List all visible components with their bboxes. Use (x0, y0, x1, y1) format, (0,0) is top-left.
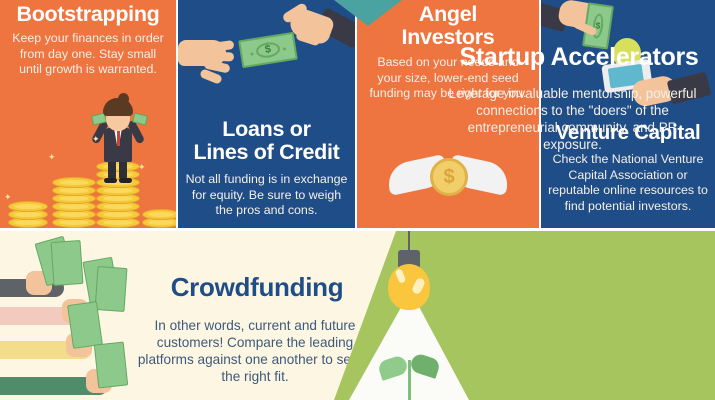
hanging-lightbulb-icon (388, 264, 430, 310)
panel-title-loans: Loans or Lines of Credit (178, 118, 355, 164)
panel-title-loans-line1: Loans or (178, 118, 355, 141)
businessman-figure (92, 92, 146, 188)
panel-body-bootstrapping: Keep your finances in order from day one… (8, 31, 168, 78)
coin-stack-left (52, 164, 96, 228)
businessman-tie (117, 131, 121, 146)
bootstrapping-illustration: ✦ ✦ ✦ ✦ (0, 96, 176, 228)
sparkle-icon: ✦ (138, 162, 146, 173)
businessman-hair (103, 98, 133, 116)
sparkle-icon: ✦ (4, 192, 12, 203)
coin-stack-far-right (142, 202, 176, 228)
cash-fan-4 (94, 342, 128, 389)
cash-fan-1b (51, 240, 84, 286)
panel-title-startup-accelerators: Startup Accelerators (440, 44, 715, 71)
bill-dollar-sign: $ (255, 41, 281, 59)
panel-body-loans: Not all funding is in exchange for equit… (184, 172, 349, 219)
panel-title-crowdfunding: Crowdfunding (122, 274, 392, 302)
businessman-shoe-right (119, 178, 132, 183)
panel-body-startup-accelerators: Leverage invaluable mentorship, powerful… (440, 86, 705, 154)
sparkle-icon: ✦ (92, 134, 100, 145)
winged-coin: $ (430, 158, 468, 196)
panel-bootstrapping: Bootstrapping Keep your finances in orde… (0, 0, 176, 228)
panel-title-bootstrapping: Bootstrapping (0, 3, 176, 26)
panel-body-crowdfunding: In other words, current and future custo… (130, 317, 380, 386)
infographic-canvas: Bootstrapping Keep your finances in orde… (0, 0, 715, 400)
panel-loans-lines-of-credit: $ Loans or Lines of Credit Not all fundi… (178, 0, 355, 228)
businessman-shoe-left (104, 178, 117, 183)
cash-fan-3 (67, 301, 103, 349)
panel-title-loans-line2: Lines of Credit (178, 141, 355, 164)
coin-stack-far-left (8, 194, 48, 228)
loans-illustration: $ (178, 0, 355, 112)
dollar-bill: $ (238, 32, 298, 68)
panel-body-venture-capital: Check the National Venture Capital Assoc… (546, 152, 710, 215)
sparkle-icon: ✦ (48, 152, 56, 163)
